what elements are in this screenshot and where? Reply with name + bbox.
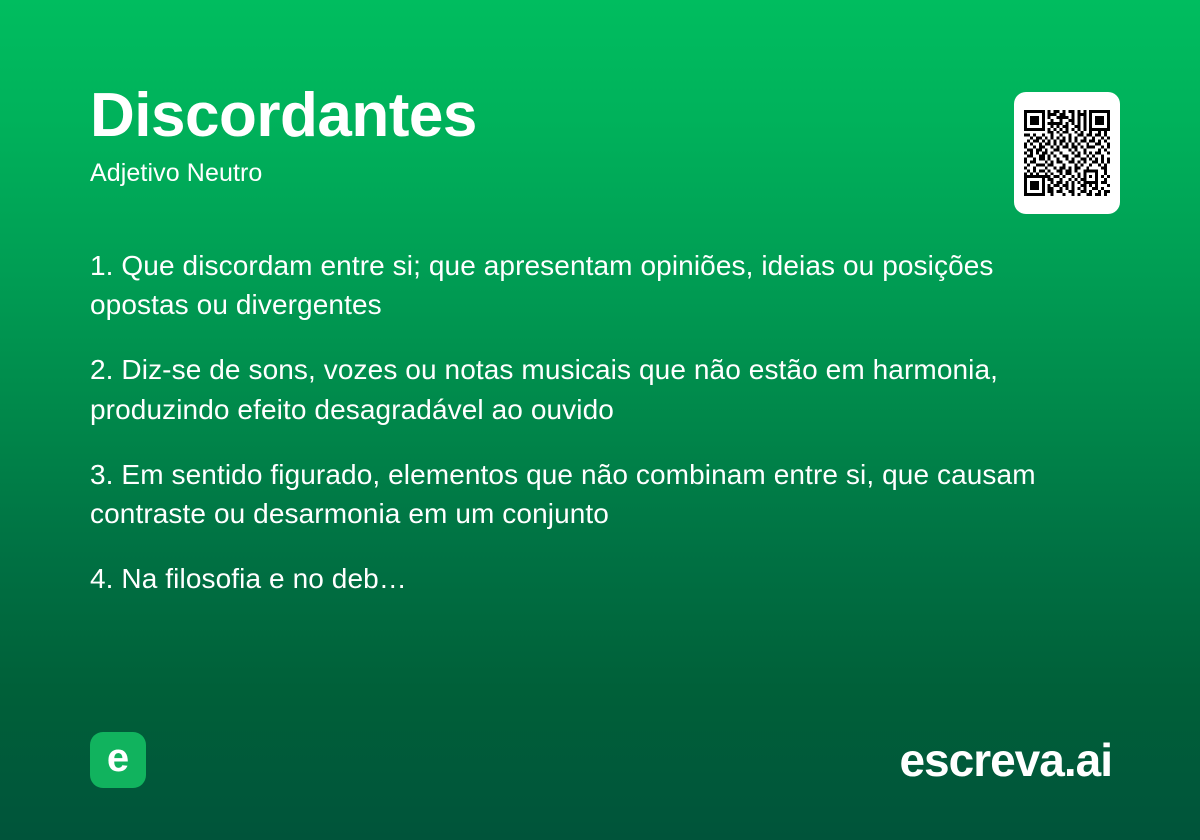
definition-item: 2. Diz-se de sons, vozes ou notas musica… [90, 350, 1075, 428]
dictionary-card: Discordantes Adjetivo Neutro [0, 0, 1200, 840]
qr-code[interactable] [1014, 92, 1120, 214]
definition-item: 3. Em sentido figurado, elementos que nã… [90, 455, 1075, 533]
definition-item: 4. Na filosofia e no deb… [90, 559, 1075, 598]
qr-code-icon [1024, 110, 1110, 196]
word-class-label: Adjetivo Neutro [90, 158, 950, 188]
escreva-logo-badge[interactable]: e [90, 732, 146, 788]
definition-list: 1. Que discordam entre si; que apresenta… [90, 246, 1075, 598]
card-header: Discordantes Adjetivo Neutro [90, 84, 950, 188]
logo-letter: e [107, 738, 129, 778]
page-title: Discordantes [90, 84, 950, 148]
card-footer: e escreva.ai [90, 732, 1112, 788]
brand-wordmark: escreva.ai [899, 737, 1112, 783]
definition-item: 1. Que discordam entre si; que apresenta… [90, 246, 1075, 324]
